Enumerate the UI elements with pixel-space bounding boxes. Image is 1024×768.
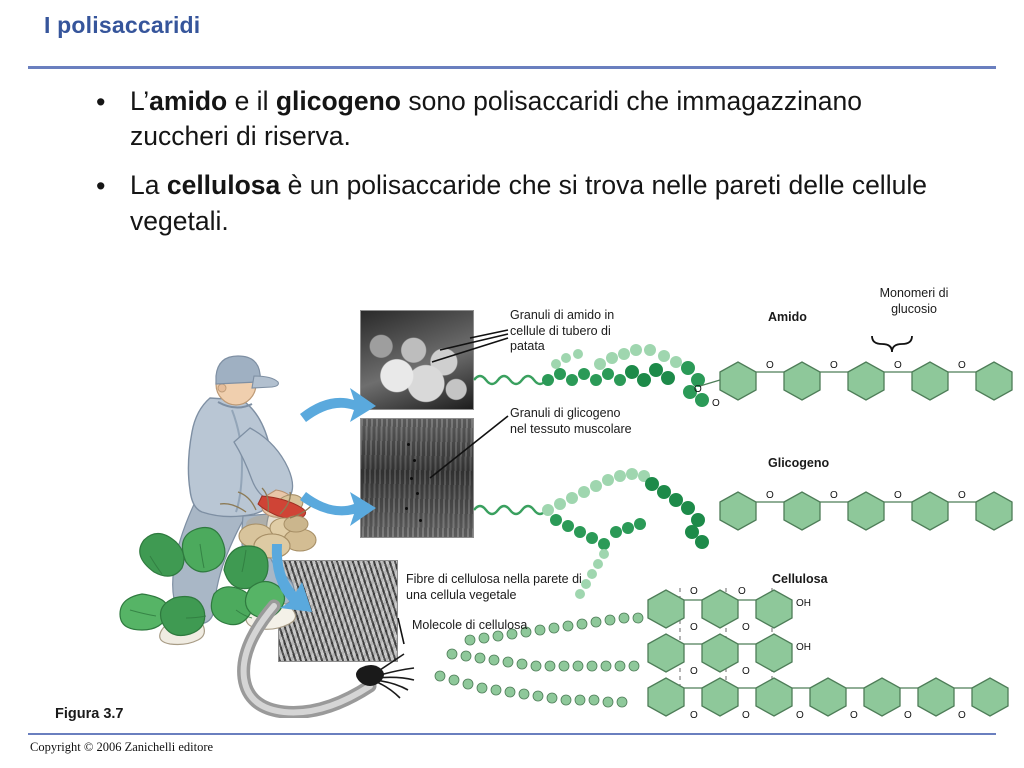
bullet-text: La cellulosa è un polisaccaride che si t… xyxy=(130,170,927,235)
micrograph-starch-granules xyxy=(360,310,474,410)
sugar-ring-row-amido: O O O O O O xyxy=(694,360,1012,409)
atom-label-o: O xyxy=(766,490,774,501)
label-glycogen-micrograph: Granuli di glicogeno nel tessuto muscola… xyxy=(510,406,640,437)
atom-label-o: O xyxy=(742,622,750,633)
list-item: • L’amido e il glicogeno sono polisaccar… xyxy=(88,84,968,154)
label-starch-micrograph: Granuli di amido in cellule di tubero di… xyxy=(510,308,640,355)
atom-label-o: O xyxy=(690,586,698,597)
atom-label-o: O xyxy=(958,490,966,501)
atom-label-o: O xyxy=(894,490,902,501)
atom-label-oh: OH xyxy=(796,598,811,609)
atom-label-o: O xyxy=(796,710,804,718)
atom-label-o: O xyxy=(830,360,838,371)
sugar-ring-row-glicogeno: O O O O xyxy=(720,490,1012,530)
label-glicogeno: Glicogeno xyxy=(768,456,829,472)
label-cellulose-molecules: Molecole di cellulosa xyxy=(412,618,532,634)
label-cellulosa: Cellulosa xyxy=(772,572,828,588)
label-cellulose-fibers: Fibre di cellulosa nella parete di una c… xyxy=(406,572,606,603)
atom-label-o: O xyxy=(830,490,838,501)
atom-label-o: O xyxy=(904,710,912,718)
bullet-marker: • xyxy=(96,85,105,121)
figure-polysaccharides: O O O O O O xyxy=(0,288,1024,718)
copyright-notice: Copyright © 2006 Zanichelli editore xyxy=(30,740,213,755)
brace-monomers xyxy=(872,336,912,352)
figure-caption: Figura 3.7 xyxy=(55,706,124,722)
slide: I polisaccaridi • L’amido e il glicogeno… xyxy=(0,0,1024,768)
title-divider xyxy=(28,66,996,69)
list-item: • La cellulosa è un polisaccaride che si… xyxy=(88,168,968,238)
atom-label-o: O xyxy=(690,622,698,633)
atom-label-o: O xyxy=(690,710,698,718)
bullet-text: L’amido e il glicogeno sono polisaccarid… xyxy=(130,86,862,151)
micrograph-glycogen-tissue xyxy=(360,418,474,538)
atom-label-o: O xyxy=(894,360,902,371)
atom-label-o: O xyxy=(850,710,858,718)
atom-label-o: O xyxy=(712,398,720,409)
atom-label-o: O xyxy=(958,360,966,371)
label-amido: Amido xyxy=(768,310,807,326)
illustration-potatoes xyxy=(220,488,316,558)
bullet-marker: • xyxy=(96,169,105,205)
bullet-list: • L’amido e il glicogeno sono polisaccar… xyxy=(88,84,968,253)
micrograph-cellulose-fibers xyxy=(278,560,398,662)
illustration-plant-leaves xyxy=(120,528,285,636)
atom-label-o: O xyxy=(694,384,702,395)
atom-label-o: O xyxy=(766,360,774,371)
atom-label-o: O xyxy=(742,666,750,677)
page-title: I polisaccaridi xyxy=(44,12,200,39)
atom-label-o: O xyxy=(742,710,750,718)
sugar-ring-rows-cellulosa: O O O O OH O O OH xyxy=(648,586,1008,718)
footer-divider xyxy=(28,733,996,735)
atom-label-o: O xyxy=(738,586,746,597)
atom-label-o: O xyxy=(690,666,698,677)
atom-label-oh: OH xyxy=(796,642,811,653)
atom-label-o: O xyxy=(958,710,966,718)
label-monomeri-glucosio: Monomeri di glucosio xyxy=(866,286,962,317)
